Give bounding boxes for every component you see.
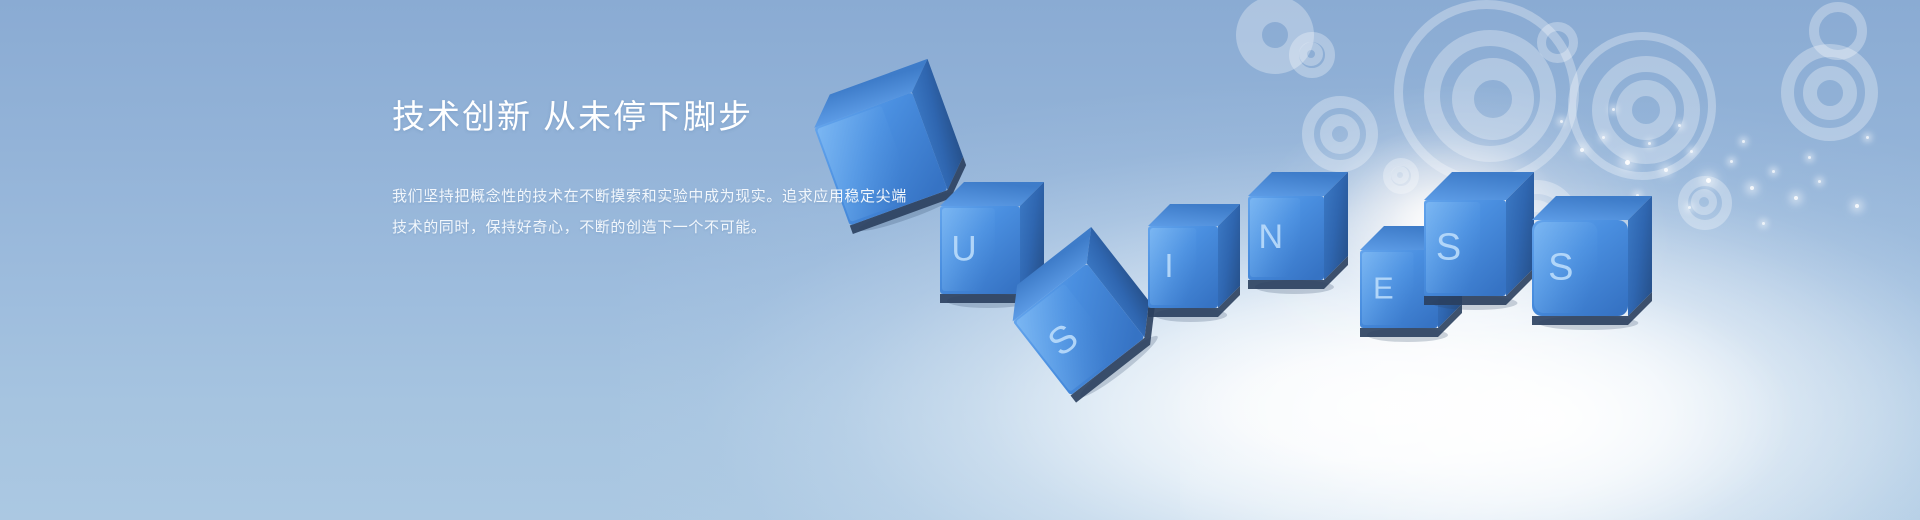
hero-headline: 技术创新 从未停下脚步 <box>392 97 1012 137</box>
svg-text:E: E <box>1373 270 1394 305</box>
keycap-n: N <box>1248 172 1362 308</box>
hero-banner: U S <box>0 0 1920 520</box>
keycap-i: I <box>1148 204 1254 336</box>
keycap-cluster: U S <box>0 0 1920 520</box>
svg-text:N: N <box>1259 218 1284 256</box>
svg-text:S: S <box>1548 247 1573 289</box>
svg-text:I: I <box>1164 247 1173 284</box>
keycap-s-mid: S <box>1424 172 1548 324</box>
svg-text:S: S <box>1436 227 1461 269</box>
hero-copy: 技术创新 从未停下脚步 我们坚持把概念性的技术在不断摸索和实验中成为现实。追求应… <box>392 97 1012 243</box>
keycap-s-right: S <box>1532 196 1666 344</box>
hero-body-line-1: 我们坚持把概念性的技术在不断摸索和实验中成为现实。追求应用稳定尖端 <box>392 181 1012 212</box>
hero-body-line-2: 技术的同时，保持好奇心，不断的创造下一个不可能。 <box>392 212 1012 243</box>
hero-body-text: 我们坚持把概念性的技术在不断摸索和实验中成为现实。追求应用稳定尖端 技术的同时，… <box>392 181 1012 243</box>
